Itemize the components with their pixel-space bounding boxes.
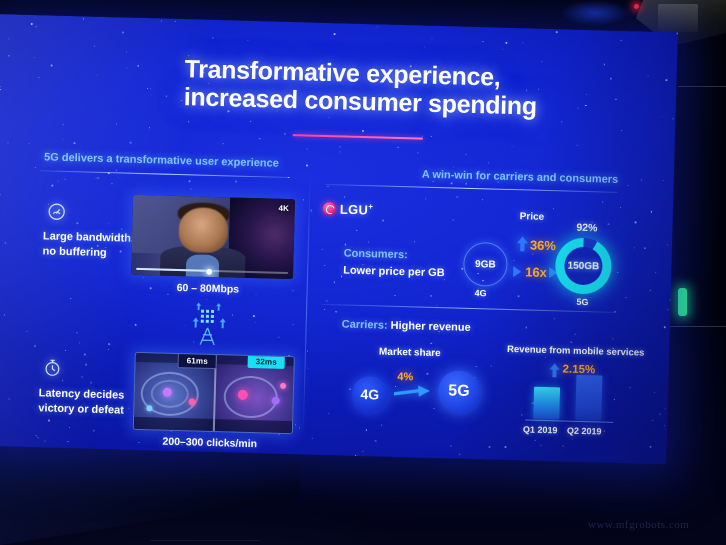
bullet-latency-line-2: victory or defeat [38, 401, 124, 418]
video-person-shirt [186, 254, 219, 279]
bullet-latency-label: Latency decides victory or defeat [38, 386, 124, 418]
lgu-plus-superscript: + [368, 202, 373, 211]
consumers-after-donut: 150GB [555, 237, 612, 294]
latency-badge-right: 32ms [248, 355, 286, 369]
lgu-plus-name: LGU [340, 202, 369, 218]
page-title: Transformative experience, increased con… [183, 55, 564, 121]
lgu-plus-logo: LGU+ [323, 201, 374, 218]
carriers-divider [322, 304, 614, 313]
latency-badge-left: 61ms [177, 353, 217, 369]
bullet-bandwidth-label: Large bandwidth, no buffering [42, 229, 134, 261]
left-section-header: 5G delivers a transformative user experi… [44, 151, 279, 169]
multiplier-value: 16x [525, 264, 547, 280]
revenue-bar-q2 [575, 375, 602, 421]
revenue-bar-label-q2: Q2 2019 [567, 426, 602, 437]
market-share-title: Market share [379, 346, 441, 359]
wall-rail-lower [668, 326, 726, 327]
consumers-after-percent: 92% [576, 222, 597, 235]
green-indicator-light [678, 288, 687, 316]
price-metric-title: Price [520, 211, 545, 223]
wall-rail-upper [678, 86, 726, 87]
carriers-label: Carriers: [342, 318, 388, 331]
consumers-text: Lower price per GB [343, 262, 445, 281]
consumers-after-generation: 5G [576, 297, 588, 307]
carriers-block-label: Carriers: Higher revenue [341, 316, 470, 336]
speedometer-icon [46, 201, 67, 222]
red-indicator-light [634, 4, 639, 9]
column-divider [303, 173, 311, 433]
market-share-to: 5G [437, 370, 480, 413]
market-share-delta: 4% [397, 371, 413, 383]
price-increase-value: 36% [530, 238, 556, 254]
photo-watermark: www.mfgrobots.com [588, 519, 689, 531]
video-thumbnail: 4K [131, 195, 295, 279]
carriers-text: Higher revenue [390, 320, 470, 334]
consumers-before-circle: 9GB [463, 242, 508, 287]
consumers-before-generation: 4G [474, 288, 486, 298]
game-screenshot: 61ms 32ms [133, 352, 295, 434]
market-share-arrow-icon [394, 385, 430, 399]
bandwidth-caption: 60 – 80Mbps [176, 282, 239, 296]
price-up-arrow-icon [517, 236, 528, 251]
consumers-after-value: 150GB [555, 237, 612, 294]
cell-tower-icon [179, 301, 236, 346]
revenue-up-arrow-icon [549, 363, 559, 377]
market-share-from: 4G [351, 376, 388, 413]
floor-edge-line [150, 540, 260, 541]
video-quality-badge: 4K [278, 204, 288, 213]
projection-screen: Transformative experience, increased con… [0, 14, 678, 464]
ceiling-rig-detail [658, 4, 698, 32]
video-progress-handle[interactable] [206, 269, 212, 275]
title-underline [293, 134, 423, 140]
revenue-bar-label-q1: Q1 2019 [523, 424, 558, 435]
video-person-face [179, 207, 229, 253]
blue-ambient-glow [560, 0, 630, 26]
bullet-bandwidth-line-2: no buffering [42, 244, 133, 261]
lgu-plus-wordmark: LGU+ [340, 201, 374, 217]
lgu-plus-logo-icon [323, 202, 336, 215]
consumers-block-label: Consumers: Lower price per GB [343, 245, 445, 281]
right-section-underline [325, 184, 617, 193]
left-section-underline [40, 170, 290, 178]
revenue-chart-title: Revenue from mobile services [507, 344, 645, 359]
revenue-bar-q1 [533, 387, 560, 420]
right-section-header: A win-win for carriers and consumers [422, 169, 619, 186]
stopwatch-icon [42, 357, 63, 378]
consumers-label: Consumers: [343, 245, 445, 264]
photo-of-keynote-slide: Transformative experience, increased con… [0, 0, 726, 545]
multiplier-arrow-left-icon [513, 266, 521, 277]
consumers-before-value: 9GB [464, 243, 507, 286]
latency-caption: 200–300 clicks/min [162, 436, 257, 451]
